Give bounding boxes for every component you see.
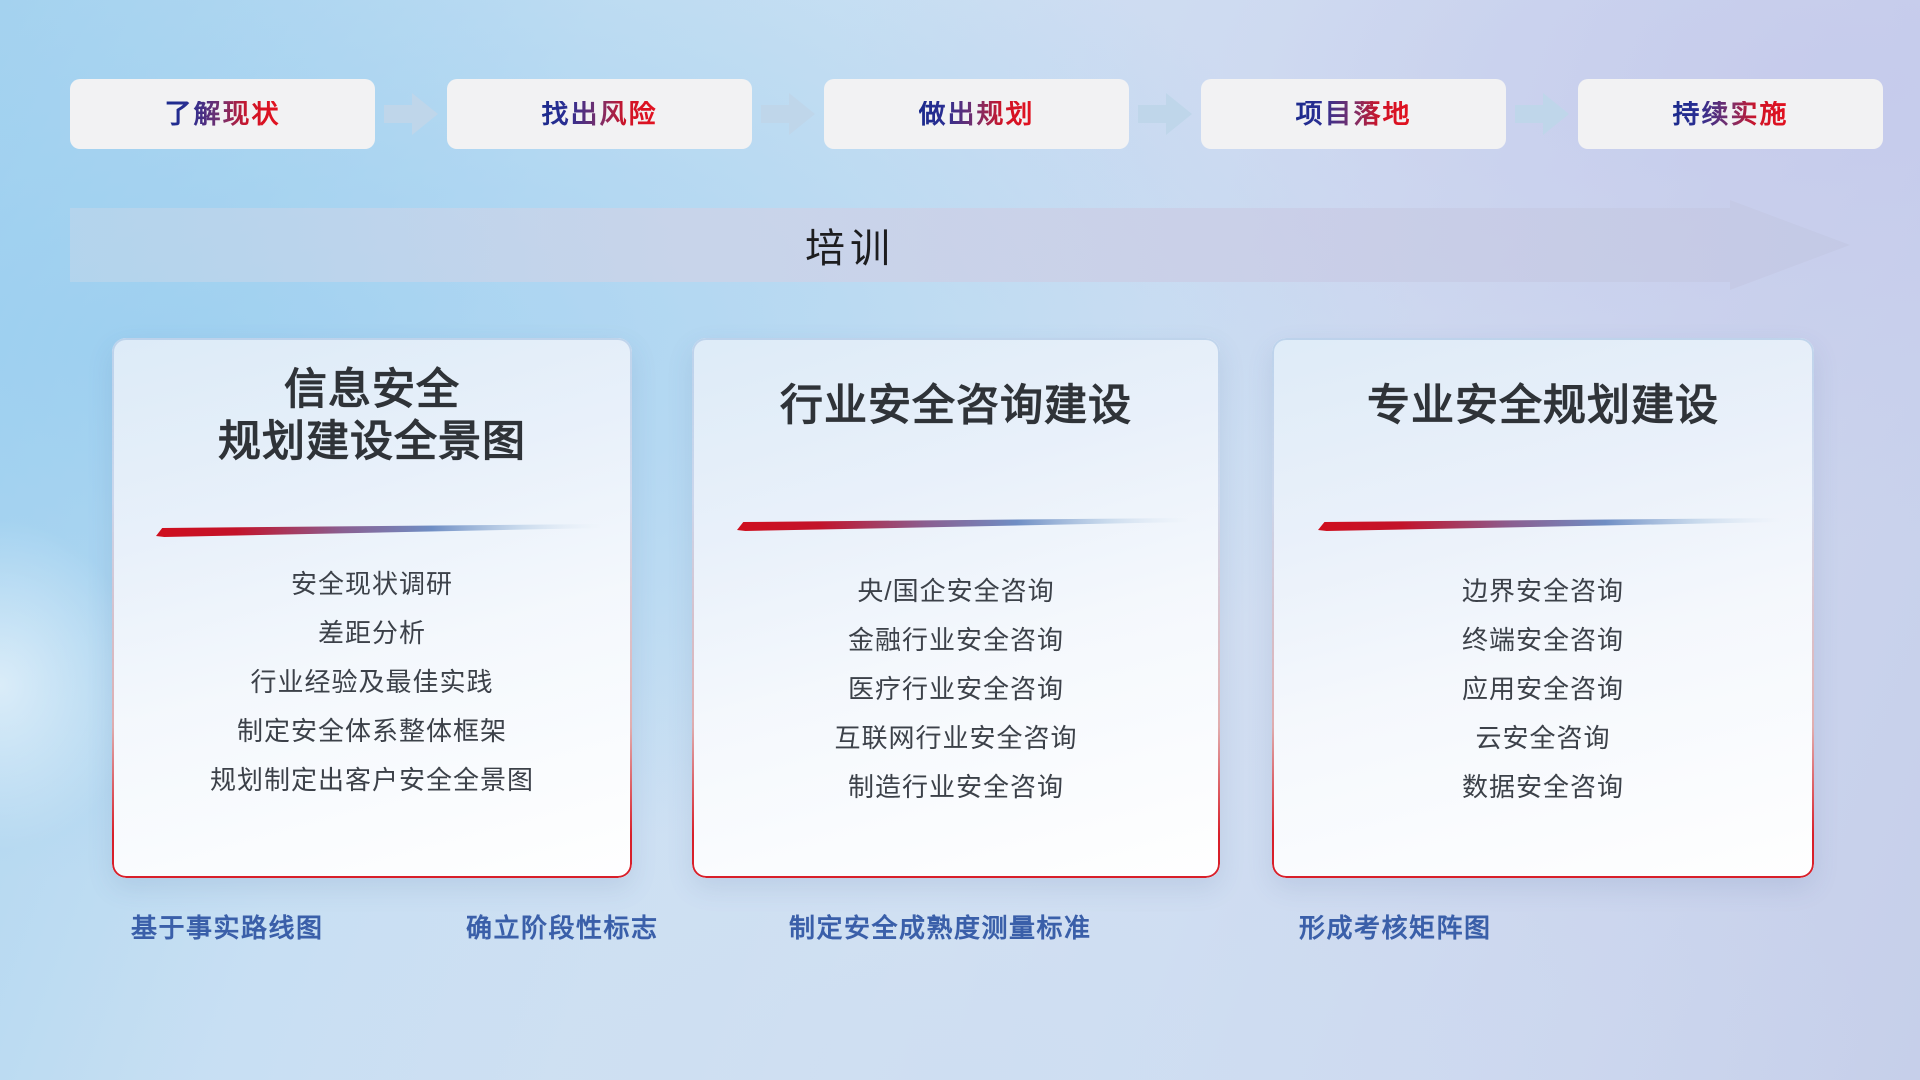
footnote-label: 形成考核矩阵图 [1299, 908, 1492, 945]
banner-label: 培训 [70, 200, 1630, 290]
list-item: 制定安全体系整体框架 [237, 713, 507, 750]
list-item: 边界安全咨询 [1462, 573, 1624, 610]
right-arrow-icon [1136, 91, 1194, 137]
list-item: 央/国企安全咨询 [857, 573, 1054, 610]
right-arrow-icon [1513, 91, 1571, 137]
step-box-1[interactable]: 了解现状 [70, 79, 375, 149]
list-item: 金融行业安全咨询 [848, 622, 1064, 659]
list-item: 互联网行业安全咨询 [834, 720, 1077, 757]
card-information-security-blueprint[interactable]: 信息安全 规划建设全景图 [112, 338, 632, 878]
right-arrow-icon [759, 91, 817, 137]
card-item-list: 边界安全咨询 终端安全咨询 应用安全咨询 云安全咨询 数据安全咨询 [1272, 573, 1814, 806]
list-item: 应用安全咨询 [1462, 671, 1624, 708]
list-item: 云安全咨询 [1475, 720, 1610, 757]
card-row: 信息安全 规划建设全景图 [0, 338, 1920, 878]
card-title: 专业安全规划建设 [1272, 380, 1814, 432]
list-item: 医疗行业安全咨询 [848, 671, 1064, 708]
card-title-line: 信息安全 [112, 364, 632, 416]
list-item: 终端安全咨询 [1462, 622, 1624, 659]
footnote-label: 制定安全成熟度测量标准 [789, 908, 1092, 945]
list-item: 行业经验及最佳实践 [250, 664, 493, 701]
step-box-3[interactable]: 做出规划 [824, 79, 1129, 149]
card-title-line: 行业安全咨询建设 [692, 380, 1220, 432]
card-title-line: 专业安全规划建设 [1272, 380, 1814, 432]
step-label: 做出规划 [919, 101, 1035, 128]
step-box-5[interactable]: 持续实施 [1578, 79, 1883, 149]
card-item-list: 安全现状调研 差距分析 行业经验及最佳实践 制定安全体系整体框架 规划制定出客户… [112, 566, 632, 799]
footnote-label: 确立阶段性标志 [466, 908, 659, 945]
card-title-line: 规划建设全景图 [112, 416, 632, 468]
card-item-list: 央/国企安全咨询 金融行业安全咨询 医疗行业安全咨询 互联网行业安全咨询 制造行… [692, 573, 1220, 806]
step-box-2[interactable]: 找出风险 [447, 79, 752, 149]
slide-canvas: 了解现状 找出风险 做出规划 项目落地 [0, 0, 1920, 1080]
step-label: 项目落地 [1296, 101, 1412, 128]
right-arrow-icon [382, 91, 440, 137]
training-banner: 培训 [70, 200, 1850, 290]
step-label: 找出风险 [542, 101, 658, 128]
card-title: 行业安全咨询建设 [692, 380, 1220, 432]
list-item: 差距分析 [318, 615, 426, 652]
list-item: 安全现状调研 [291, 566, 453, 603]
step-label: 了解现状 [165, 101, 281, 128]
card-professional-security-planning[interactable]: 专业安全规划建设 [1272, 338, 1814, 878]
list-item: 制造行业安全咨询 [848, 769, 1064, 806]
card-divider [737, 518, 1188, 531]
process-step-row: 了解现状 找出风险 做出规划 项目落地 [70, 78, 1850, 150]
footnote-row: 基于事实路线图 确立阶段性标志 制定安全成熟度测量标准 形成考核矩阵图 [0, 908, 1920, 968]
step-box-4[interactable]: 项目落地 [1201, 79, 1506, 149]
footnote-label: 基于事实路线图 [131, 908, 324, 945]
card-industry-security-consulting[interactable]: 行业安全咨询建设 [692, 338, 1220, 878]
card-divider [156, 524, 601, 537]
list-item: 数据安全咨询 [1462, 769, 1624, 806]
list-item: 规划制定出客户安全全景图 [210, 762, 534, 799]
card-title: 信息安全 规划建设全景图 [112, 364, 632, 469]
card-divider [1318, 518, 1781, 531]
step-label: 持续实施 [1673, 101, 1789, 128]
